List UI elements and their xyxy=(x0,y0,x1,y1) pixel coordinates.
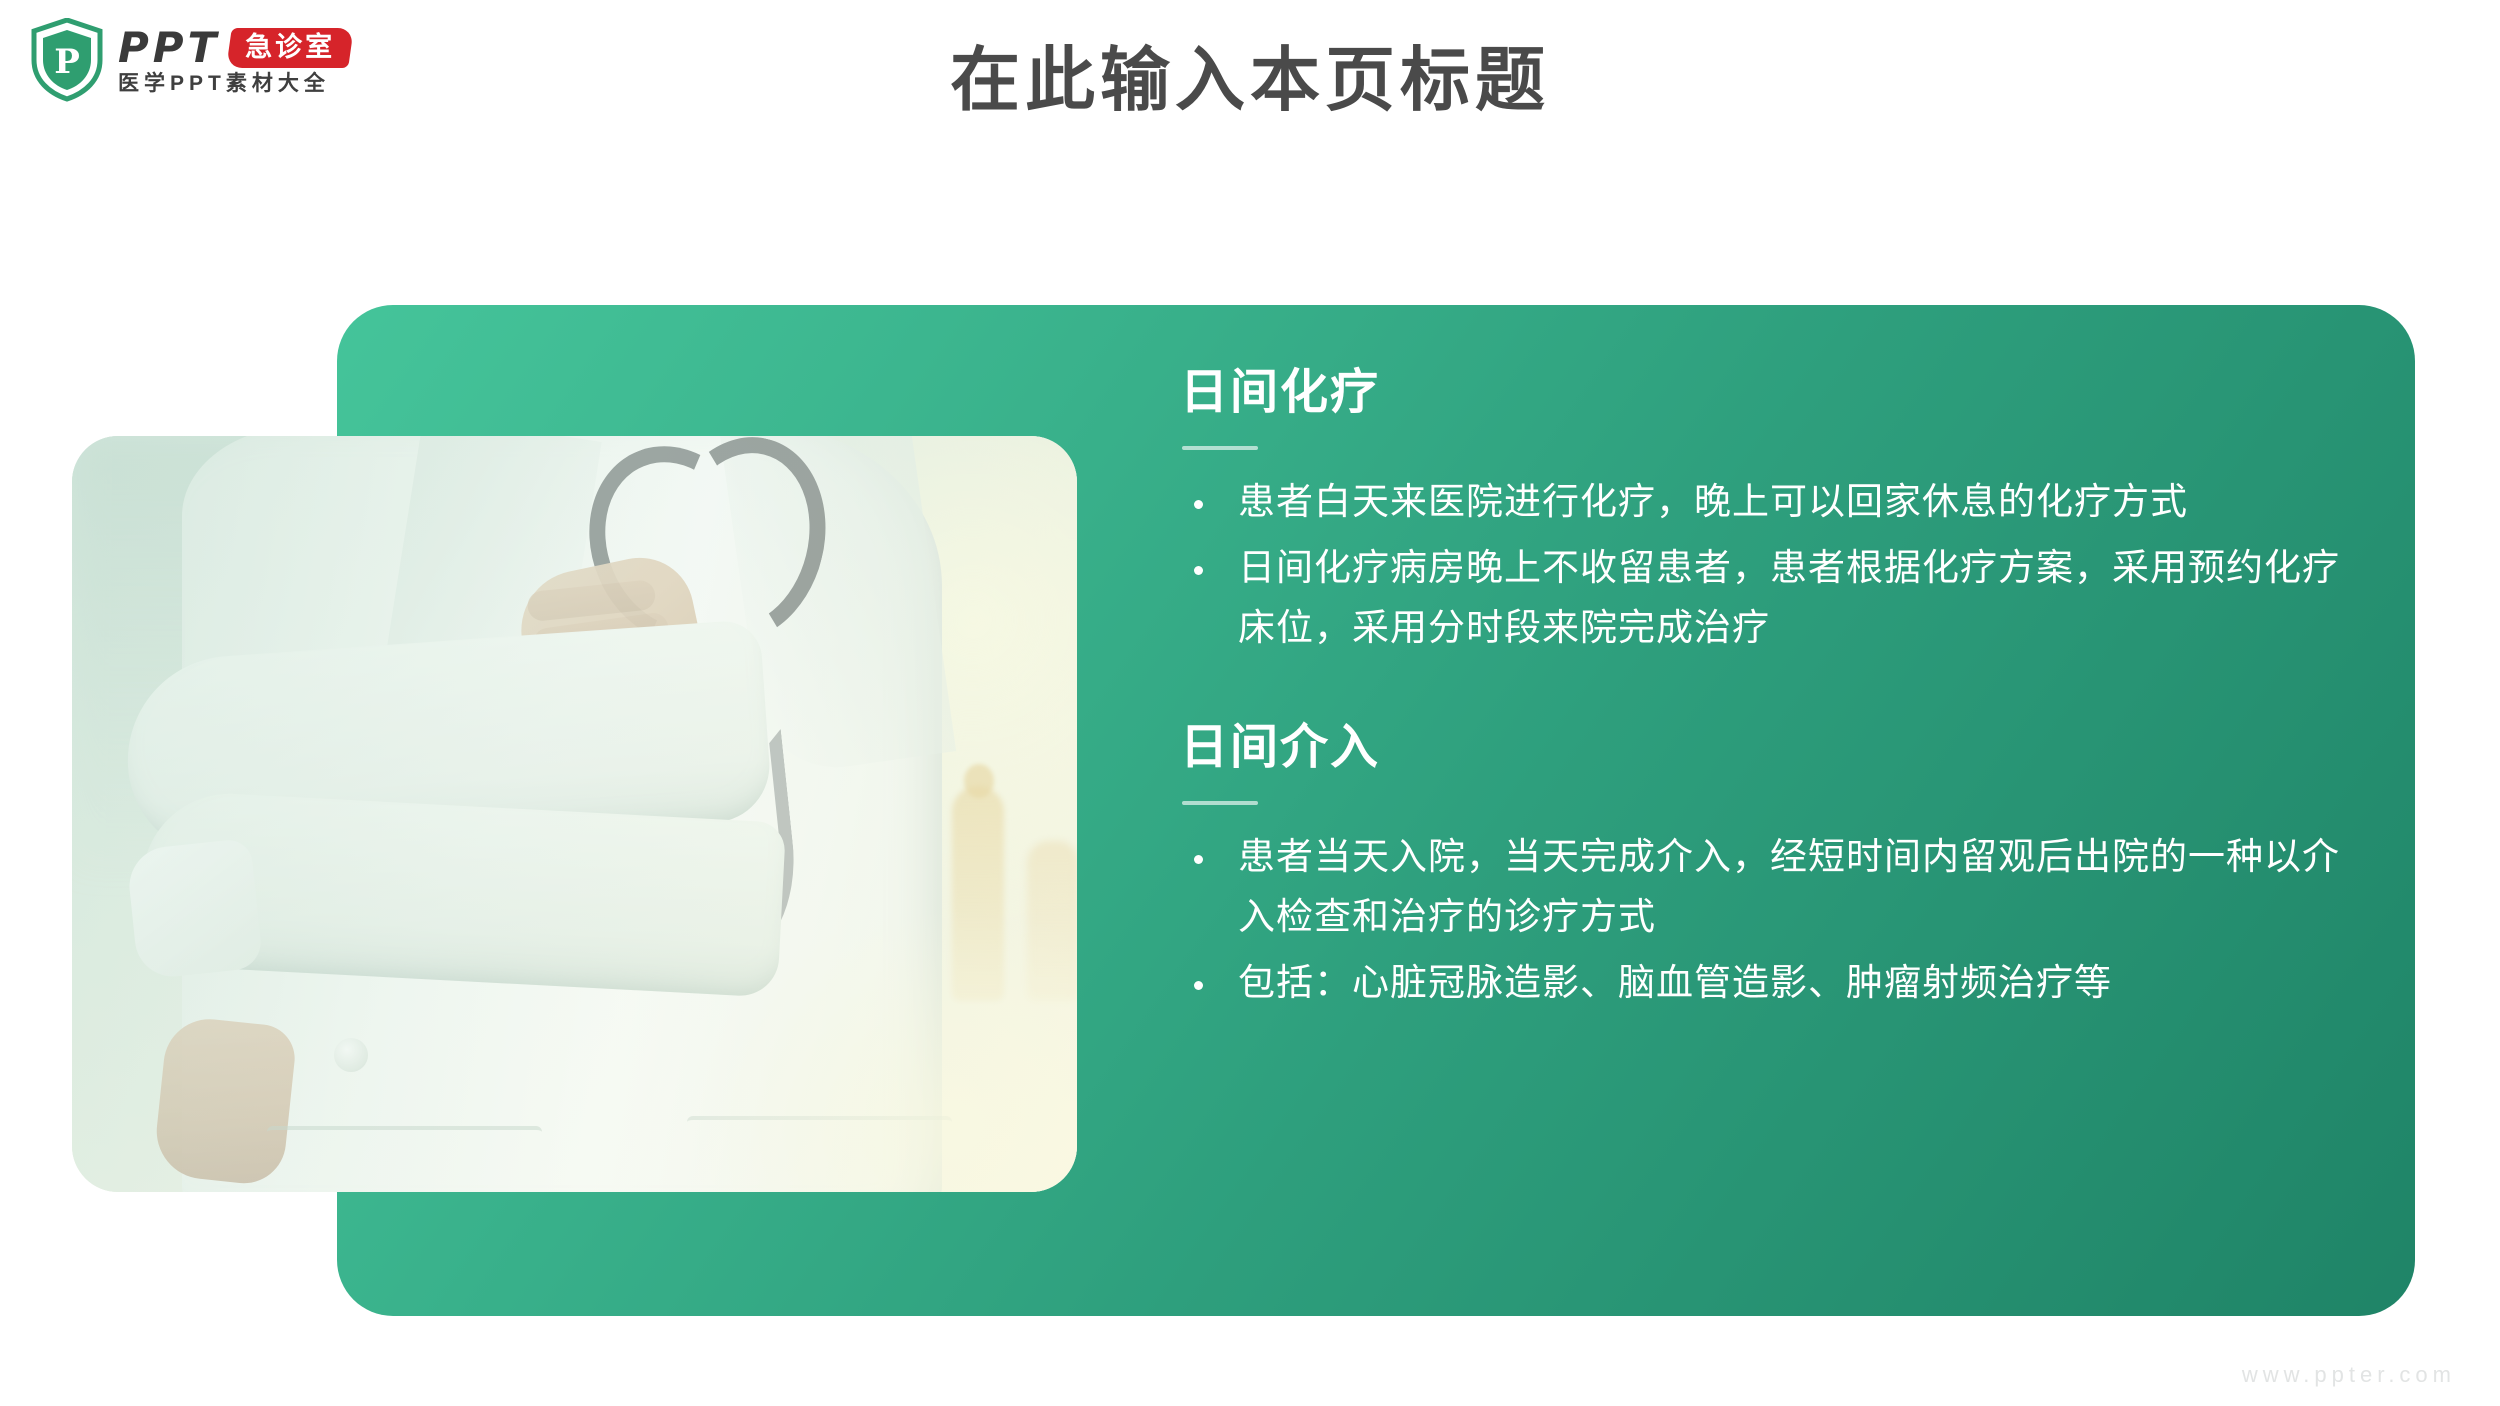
section-divider xyxy=(1182,446,1258,450)
site-watermark: www.ppter.com xyxy=(2242,1362,2456,1388)
coat-button xyxy=(334,1038,368,1072)
list-item: 包括：心脏冠脉造影、脑血管造影、肿瘤射频治疗等 xyxy=(1180,953,2360,1013)
coat-pocket-left xyxy=(267,1126,542,1192)
photo-glow-bottom xyxy=(692,912,1077,1192)
section-title: 日间化疗 xyxy=(1180,365,2360,420)
list-item: 患者当天入院，当天完成介入，经短时间内留观后出院的一种以介入检查和治疗的诊疗方式 xyxy=(1180,827,2360,947)
section-divider xyxy=(1182,801,1258,805)
page-title: 在此输入本页标题 xyxy=(0,38,2500,122)
list-item: 日间化疗病房晚上不收留患者，患者根据化疗方案，采用预约化疗床位，采用分时段来院完… xyxy=(1180,538,2360,658)
list-item: 患者白天来医院进行化疗，晚上可以回家休息的化疗方式 xyxy=(1180,472,2360,532)
panel-content: 日间化疗 患者白天来医院进行化疗，晚上可以回家休息的化疗方式 日间化疗病房晚上不… xyxy=(1180,365,2360,1019)
section-title: 日间介入 xyxy=(1180,720,2360,775)
section-day-chemotherapy: 日间化疗 患者白天来医院进行化疗，晚上可以回家休息的化疗方式 日间化疗病房晚上不… xyxy=(1180,365,2360,658)
section-day-intervention: 日间介入 患者当天入院，当天完成介入，经短时间内留观后出院的一种以介入检查和治疗… xyxy=(1180,720,2360,1013)
bullet-list: 患者白天来医院进行化疗，晚上可以回家休息的化疗方式 日间化疗病房晚上不收留患者，… xyxy=(1180,472,2360,658)
doctor-photo xyxy=(72,436,1077,1192)
bullet-list: 患者当天入院，当天完成介入，经短时间内留观后出院的一种以介入检查和治疗的诊疗方式… xyxy=(1180,827,2360,1013)
photo-card xyxy=(72,436,1077,1192)
sleeve-cuff xyxy=(126,838,264,980)
